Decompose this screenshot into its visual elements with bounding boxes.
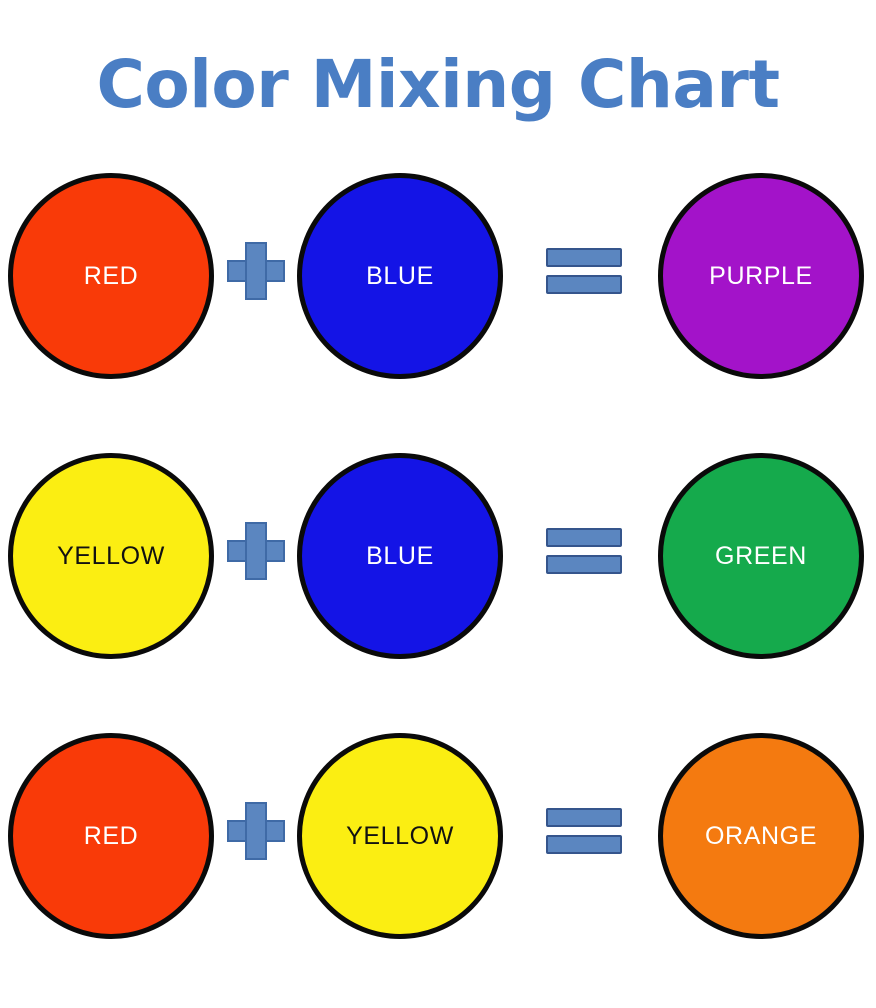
- color-circle-label: GREEN: [715, 542, 807, 571]
- equation-rows: RED BLUE PURPLE YELLOW: [0, 168, 876, 1008]
- equation-row: YELLOW BLUE GREEN: [0, 448, 876, 728]
- page-title: Color Mixing Chart: [0, 52, 876, 118]
- color-circle-operand-a[interactable]: YELLOW: [8, 453, 214, 659]
- equals-bottom-bar: [546, 555, 622, 574]
- plus-center-fill: [247, 542, 265, 560]
- color-circle-result[interactable]: GREEN: [658, 453, 864, 659]
- equals-top-bar: [546, 528, 622, 547]
- equation-row: RED BLUE PURPLE: [0, 168, 876, 448]
- plus-center-fill: [247, 262, 265, 280]
- color-circle-operand-b[interactable]: YELLOW: [297, 733, 503, 939]
- equation-row: RED YELLOW ORANGE: [0, 728, 876, 1008]
- equals-sign-icon: [546, 808, 622, 854]
- color-circle-result[interactable]: PURPLE: [658, 173, 864, 379]
- color-circle-operand-a[interactable]: RED: [8, 173, 214, 379]
- plus-sign-icon: [227, 522, 285, 580]
- equals-top-bar: [546, 248, 622, 267]
- color-circle-result[interactable]: ORANGE: [658, 733, 864, 939]
- equals-bottom-bar: [546, 835, 622, 854]
- equals-bottom-bar: [546, 275, 622, 294]
- color-circle-label: PURPLE: [709, 262, 813, 291]
- plus-center-fill: [247, 822, 265, 840]
- equals-sign-icon: [546, 528, 622, 574]
- equals-top-bar: [546, 808, 622, 827]
- color-mixing-chart-page: Color Mixing Chart RED BLUE PURPLE: [0, 0, 876, 946]
- color-circle-label: RED: [84, 822, 139, 851]
- color-circle-operand-b[interactable]: BLUE: [297, 173, 503, 379]
- color-circle-label: BLUE: [366, 542, 434, 571]
- plus-sign-icon: [227, 242, 285, 300]
- color-circle-label: BLUE: [366, 262, 434, 291]
- color-circle-label: RED: [84, 262, 139, 291]
- color-circle-label: ORANGE: [705, 822, 817, 851]
- color-circle-label: YELLOW: [57, 542, 165, 571]
- color-circle-operand-b[interactable]: BLUE: [297, 453, 503, 659]
- plus-sign-icon: [227, 802, 285, 860]
- color-circle-label: YELLOW: [346, 822, 454, 851]
- color-circle-operand-a[interactable]: RED: [8, 733, 214, 939]
- equals-sign-icon: [546, 248, 622, 294]
